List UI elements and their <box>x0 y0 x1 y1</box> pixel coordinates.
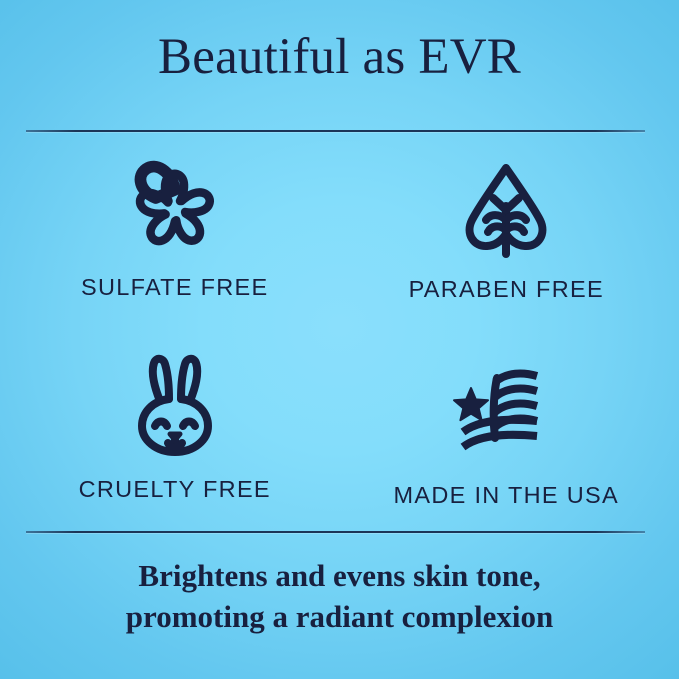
leaf-icon <box>454 158 558 262</box>
feature-cruelty-free: CRUELTY FREE <box>16 332 334 512</box>
feature-label-cruelty-free: CRUELTY FREE <box>79 476 271 503</box>
flower-icon <box>123 156 227 260</box>
feature-label-made-in-usa: MADE IN THE USA <box>394 482 619 509</box>
feature-label-sulfate-free: SULFATE FREE <box>81 274 269 301</box>
tagline-line-1: Brightens and evens skin tone, <box>0 556 679 597</box>
feature-paraben-free: PARABEN FREE <box>348 152 666 332</box>
bunny-icon <box>127 354 223 458</box>
usa-flag-icon <box>451 358 561 462</box>
feature-made-in-usa: MADE IN THE USA <box>348 332 666 512</box>
divider-top <box>26 130 645 132</box>
feature-sulfate-free: SULFATE FREE <box>16 152 334 332</box>
page-title: Beautiful as EVR <box>0 30 679 85</box>
title-block: Beautiful as EVR <box>0 30 679 85</box>
tagline-line-2: promoting a radiant complexion <box>0 597 679 638</box>
feature-grid: SULFATE FREE <box>22 152 657 512</box>
divider-bottom <box>26 531 645 533</box>
tagline-block: Brightens and evens skin tone, promoting… <box>0 556 679 638</box>
feature-label-paraben-free: PARABEN FREE <box>409 276 604 303</box>
product-benefits-infographic: Beautiful as EVR <box>0 0 679 679</box>
